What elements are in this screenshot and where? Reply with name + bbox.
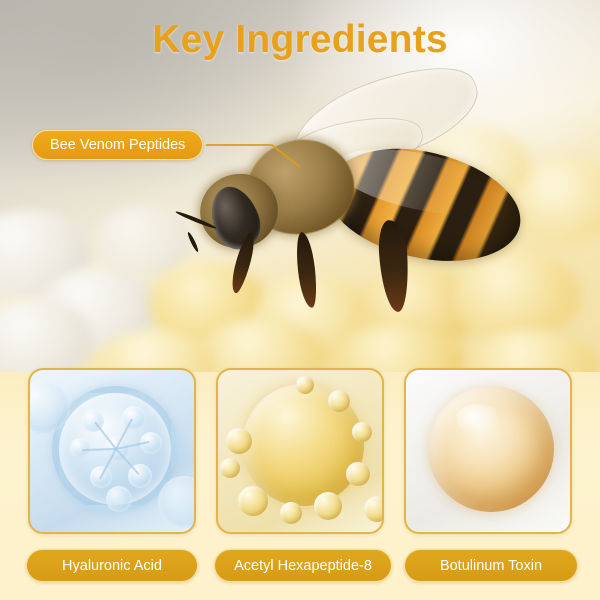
molecule-node bbox=[106, 486, 132, 512]
label-text: Hyaluronic Acid bbox=[62, 558, 162, 574]
ingredient-card-hyaluronic-acid[interactable] bbox=[28, 368, 196, 534]
label-text: Botulinum Toxin bbox=[440, 558, 542, 574]
label-text: Acetyl Hexapeptide-8 bbox=[234, 558, 372, 574]
oil-bubble bbox=[226, 428, 252, 454]
callout-label: Bee Venom Peptides bbox=[50, 137, 185, 153]
oil-bubble bbox=[314, 492, 342, 520]
oil-bubble bbox=[280, 502, 302, 524]
page-title: Key Ingredients bbox=[0, 18, 600, 62]
hero-bee-photo: Bee Venom Peptides Key Ingredients bbox=[0, 0, 600, 372]
wax-blob bbox=[96, 206, 192, 276]
ingredient-label-botulinum-toxin[interactable]: Botulinum Toxin bbox=[404, 549, 578, 582]
oil-bubble bbox=[346, 462, 370, 486]
amber-sphere-shape bbox=[428, 386, 554, 512]
key-ingredients-poster: Bee Venom Peptides Key Ingredients bbox=[0, 0, 600, 600]
oil-bubble bbox=[328, 390, 350, 412]
water-bubble bbox=[158, 476, 196, 528]
ingredient-label-acetyl-hexapeptide-8[interactable]: Acetyl Hexapeptide-8 bbox=[214, 549, 392, 582]
honeybee-illustration bbox=[208, 92, 568, 342]
oil-bubble bbox=[238, 486, 268, 516]
callout-bee-venom-peptides[interactable]: Bee Venom Peptides bbox=[32, 130, 203, 160]
bee-leg-middle bbox=[294, 231, 319, 308]
oil-bubble bbox=[352, 422, 372, 442]
ingredient-label-list: Hyaluronic Acid Acetyl Hexapeptide-8 Bot… bbox=[0, 549, 600, 583]
ingredient-card-list bbox=[28, 368, 572, 534]
ingredient-card-acetyl-hexapeptide-8[interactable] bbox=[216, 368, 384, 534]
ingredient-card-botulinum-toxin[interactable] bbox=[404, 368, 572, 534]
oil-bubble bbox=[364, 496, 384, 522]
ingredient-label-hyaluronic-acid[interactable]: Hyaluronic Acid bbox=[26, 549, 198, 582]
oil-bubble bbox=[220, 458, 240, 478]
oil-bubble bbox=[296, 376, 314, 394]
